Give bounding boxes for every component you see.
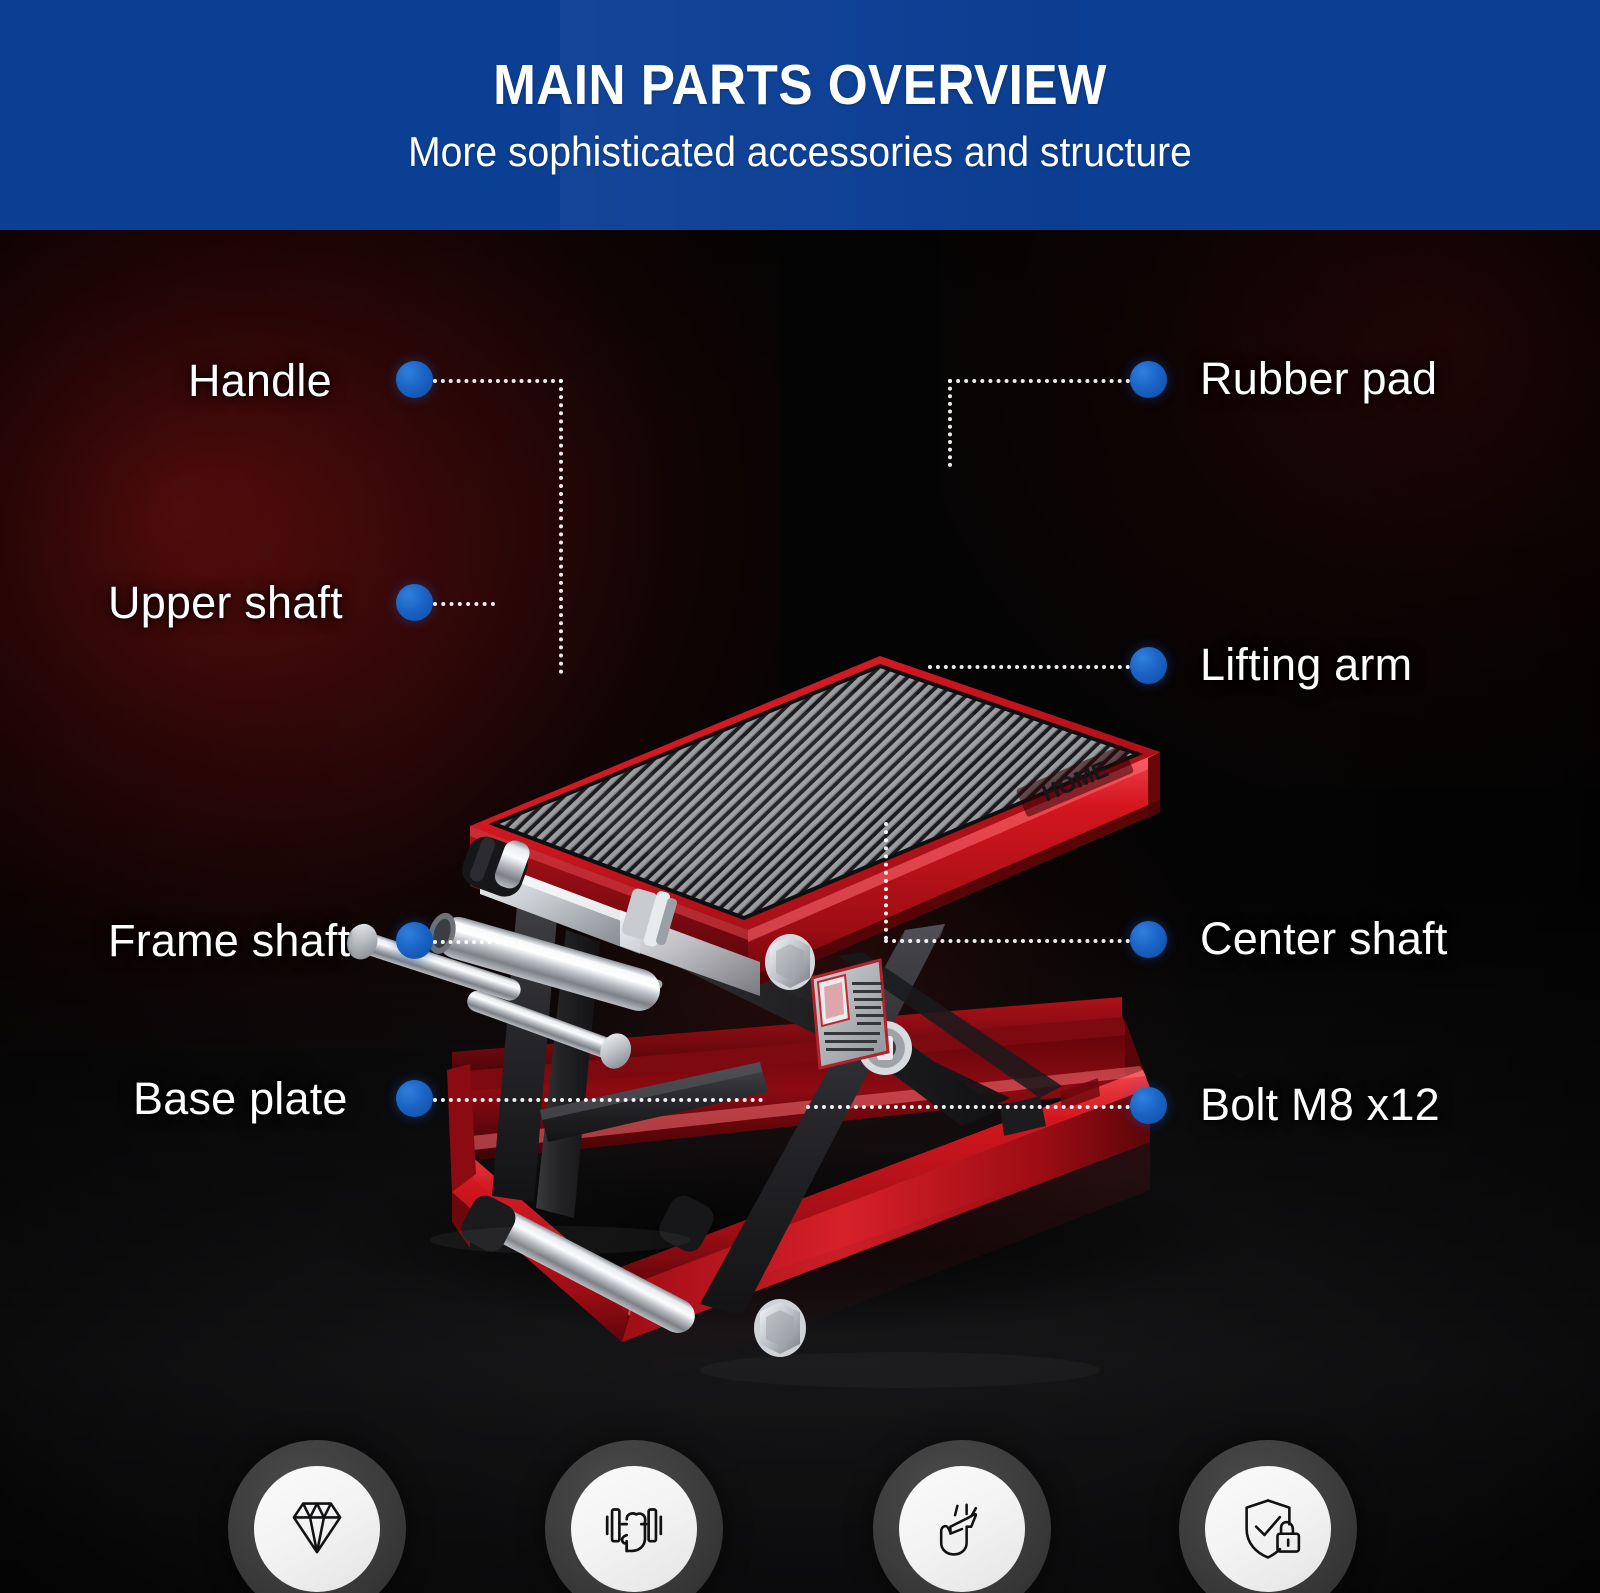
center-shaft-leader-v [884, 822, 888, 940]
callout-label-center-shaft: Center shaft [1200, 916, 1448, 961]
upper-shaft-leader [433, 602, 495, 606]
handle-dot[interactable] [396, 361, 433, 398]
callout-label-frame-shaft: Frame shaft [108, 918, 350, 963]
feature-ring [545, 1440, 723, 1593]
feature-disc [571, 1466, 697, 1592]
base-plate-dot[interactable] [396, 1080, 433, 1117]
center-shaft-leader-h [884, 939, 1130, 943]
tap-hand-icon [925, 1492, 999, 1566]
base-plate-leader [433, 1098, 763, 1102]
bolt-m8-base [754, 1299, 806, 1357]
callout-label-upper-shaft: Upper shaft [108, 580, 343, 625]
frame-shaft-dot[interactable] [396, 922, 433, 959]
product-svg: HOME [0, 230, 1600, 1593]
feature-disc [254, 1466, 380, 1592]
callout-label-base-plate: Base plate [133, 1076, 348, 1121]
header-banner: MAIN PARTS OVERVIEW More sophisticated a… [0, 0, 1600, 230]
frame-shaft-leader [433, 940, 523, 944]
rubber-pad-leader-h [948, 379, 1130, 383]
feature-row: Hard material [0, 1440, 1600, 1593]
feature-hard-material[interactable]: Hard material [217, 1440, 417, 1593]
rubber-pad-leader-v [948, 379, 952, 467]
feature-disc [1205, 1466, 1331, 1592]
lifting-arm-leader [928, 665, 1130, 669]
rubber-pad-dot[interactable] [1130, 361, 1167, 398]
product-scene: HOME [0, 230, 1600, 1593]
handle-leader-v [559, 379, 563, 674]
page-subtitle: More sophisticated accessories and struc… [56, 131, 1544, 173]
feature-safe-use[interactable]: Safe use [1168, 1440, 1368, 1593]
page-title: MAIN PARTS OVERVIEW [80, 57, 1520, 114]
center-shaft-dot[interactable] [1130, 921, 1167, 958]
feature-super-power[interactable]: Super power [534, 1440, 734, 1593]
bolt-m8-leader [806, 1105, 1130, 1109]
bolt-m8-platform [765, 934, 815, 990]
warning-sticker [812, 960, 888, 1068]
infographic-page: MAIN PARTS OVERVIEW More sophisticated a… [0, 0, 1600, 1593]
lifting-arm-dot[interactable] [1130, 647, 1167, 684]
feature-ring [1179, 1440, 1357, 1593]
fist-dumbbell-icon [595, 1490, 673, 1568]
callout-label-lifting-arm: Lifting arm [1200, 642, 1412, 687]
upper-shaft-dot[interactable] [396, 584, 433, 621]
handle-leader-h [433, 379, 563, 383]
motorcycle-scissor-jack-illustration: HOME [0, 230, 1600, 1593]
feature-ring [228, 1440, 406, 1593]
callout-label-handle: Handle [188, 358, 332, 403]
shield-lock-icon [1230, 1491, 1306, 1567]
feature-disc [899, 1466, 1025, 1592]
feature-easy-to-use[interactable]: Easy to use [862, 1440, 1062, 1593]
feature-ring [873, 1440, 1051, 1593]
callout-label-rubber-pad: Rubber pad [1200, 356, 1437, 401]
diamond-icon [280, 1492, 354, 1566]
bolt-m8-dot[interactable] [1130, 1087, 1167, 1124]
callout-label-bolt-m8: Bolt M8 x12 [1200, 1082, 1440, 1127]
